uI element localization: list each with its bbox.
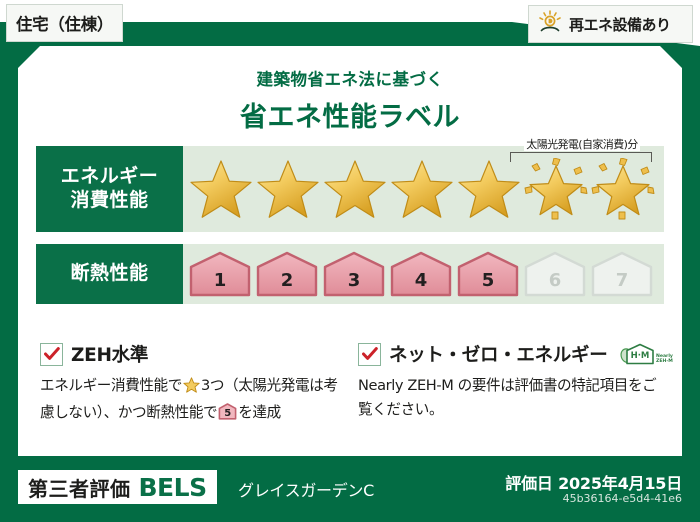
zeh-description: エネルギー消費性能で3つ（太陽光発電は考慮しない）、かつ断熱性能で5を達成 bbox=[40, 374, 344, 427]
house-level-number: 2 bbox=[255, 270, 319, 291]
evaluation-date: 評価日 2025年4月15日 bbox=[505, 470, 682, 494]
energy-label-line2: 消費性能 bbox=[70, 189, 148, 213]
energy-label-line1: エネルギー bbox=[61, 165, 159, 189]
title-subtitle: 建築物省エネ法に基づく bbox=[18, 66, 682, 90]
net-zero-block: ネット・ゼロ・エネルギー H·M Nearly ZEH-M Nearly ZEH… bbox=[358, 341, 662, 427]
building-type-tab: 住宅（住棟） bbox=[6, 4, 123, 42]
net-zero-title: ネット・ゼロ・エネルギー bbox=[389, 341, 607, 367]
solar-annotation: 太陽光発電(自家消費)分 bbox=[506, 133, 658, 152]
ratings-section: エネルギー 消費性能 太陽光発電(自家消費)分 bbox=[36, 146, 664, 316]
star-filled bbox=[455, 158, 522, 220]
evaluation-id: 45b36164-e5d4-41e6 bbox=[563, 492, 682, 505]
building-type-label: 住宅（住棟） bbox=[16, 11, 113, 35]
star-filled bbox=[187, 158, 254, 220]
star-filled bbox=[388, 158, 455, 220]
house-level-number: 7 bbox=[590, 270, 654, 291]
insulation-label-line1: 断熱性能 bbox=[70, 262, 148, 286]
net-zero-description: Nearly ZEH-M の要件は評価書の特記項目をご覧ください。 bbox=[358, 374, 662, 421]
zeh-level-block: ZEH水準 エネルギー消費性能で3つ（太陽光発電は考慮しない）、かつ断熱性能で5… bbox=[40, 341, 344, 427]
solar-annotation-text: 太陽光発電(自家消費)分 bbox=[524, 138, 639, 151]
house-level-achieved: 1 bbox=[188, 251, 252, 297]
house-level-achieved: 5 bbox=[456, 251, 520, 297]
energy-row-label: エネルギー 消費性能 bbox=[36, 146, 183, 232]
check-icon bbox=[40, 343, 63, 366]
renewable-energy-badge: 再エネ設備あり bbox=[528, 5, 693, 43]
solar-sun-icon bbox=[537, 10, 563, 38]
bels-plate: 第三者評価 BELS bbox=[18, 470, 217, 504]
label-card: 建築物省エネ法に基づく 省エネ性能ラベル エネルギー 消費性能 太陽光発電(自家… bbox=[18, 46, 682, 456]
title-block: 建築物省エネ法に基づく 省エネ性能ラベル bbox=[18, 66, 682, 134]
house-level-number: 1 bbox=[188, 270, 252, 291]
house-level-empty: 6 bbox=[523, 251, 587, 297]
solar-bracket bbox=[510, 152, 652, 162]
star-solar bbox=[589, 158, 656, 220]
house-level-number: 6 bbox=[523, 270, 587, 291]
zeh-desc-star-text: 3つ（太陽光発電 bbox=[201, 377, 309, 394]
house-level-list: 1 2 3 bbox=[183, 251, 654, 297]
page-title: 省エネ性能ラベル bbox=[18, 95, 682, 134]
renewable-badge-label: 再エネ設備あり bbox=[569, 14, 671, 35]
net-zero-heading: ネット・ゼロ・エネルギー H·M Nearly ZEH-M bbox=[358, 341, 662, 367]
house-level-number: 5 bbox=[456, 270, 520, 291]
insulation-row-label: 断熱性能 bbox=[36, 244, 183, 304]
info-section: ZEH水準 エネルギー消費性能で3つ（太陽光発電は考慮しない）、かつ断熱性能で5… bbox=[40, 341, 662, 427]
star-list bbox=[183, 158, 656, 220]
zeh-heading: ZEH水準 bbox=[40, 341, 344, 367]
inline-star-icon bbox=[183, 377, 200, 401]
nearly-zehm-logo-icon: H·M Nearly ZEH-M bbox=[619, 342, 673, 367]
star-filled bbox=[254, 158, 321, 220]
energy-performance-row: エネルギー 消費性能 太陽光発電(自家消費)分 bbox=[36, 146, 664, 232]
house-level-number: 3 bbox=[322, 270, 386, 291]
house-level-number: 4 bbox=[389, 270, 453, 291]
house-level-empty: 7 bbox=[590, 251, 654, 297]
star-solar bbox=[522, 158, 589, 220]
star-filled bbox=[321, 158, 388, 220]
footer: 第三者評価 BELS グレイスガーデンC 評価日 2025年4月15日 45b3… bbox=[0, 462, 700, 522]
zeh-desc-part3: を達成 bbox=[238, 404, 281, 421]
insulation-performance-row: 断熱性能 bbox=[36, 244, 664, 304]
house-level-achieved: 4 bbox=[389, 251, 453, 297]
third-party-eval-label: 第三者評価 bbox=[28, 473, 131, 502]
svg-text:H·M: H·M bbox=[631, 351, 650, 361]
building-name: グレイスガーデンC bbox=[238, 477, 374, 501]
zeh-title: ZEH水準 bbox=[71, 341, 148, 367]
svg-text:5: 5 bbox=[224, 408, 231, 419]
energy-star-track: 太陽光発電(自家消費)分 bbox=[183, 146, 664, 232]
house-level-achieved: 3 bbox=[322, 251, 386, 297]
svg-text:ZEH-M: ZEH-M bbox=[656, 358, 673, 364]
bels-energy-label: 住宅（住棟） 再エネ設備あり 建築物省エネ法に基づく 省エ bbox=[0, 0, 700, 522]
bels-logo-text: BELS bbox=[139, 473, 207, 502]
insulation-level-track: 1 2 3 bbox=[183, 244, 664, 304]
zeh-desc-part1: エネルギー消費性能で bbox=[40, 377, 182, 394]
house-level-achieved: 2 bbox=[255, 251, 319, 297]
inline-house-icon: 5 bbox=[218, 403, 237, 428]
check-icon bbox=[358, 343, 381, 366]
